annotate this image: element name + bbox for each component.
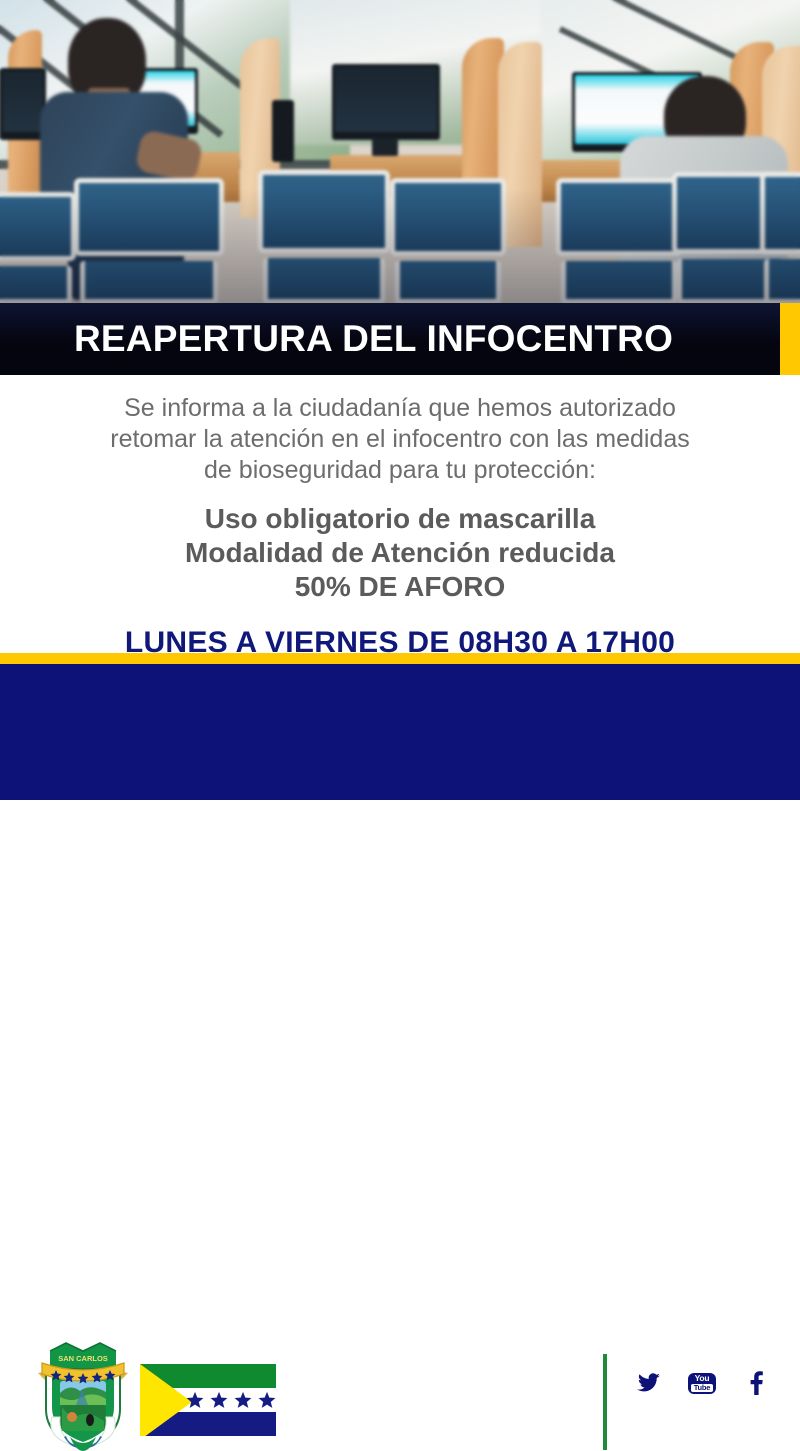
footer-divider [603,1354,607,1450]
measure-item-3: 50% DE AFORO [0,570,800,604]
measures-list: Uso obligatorio de mascarilla Modalidad … [0,502,800,604]
footer-yellow-rule [0,653,800,664]
youtube-top-text: You [695,1374,710,1383]
svg-text:SAN CARLOS: SAN CARLOS [58,1354,108,1363]
social-block: You Tube GADP SAN CARLOS [627,1361,777,1433]
social-handle: GADP SAN CARLOS [627,1416,777,1433]
organization-name: G.A.D. PARROQUIAL SAN CARLOS Administrac… [291,1363,591,1441]
youtube-bottom-text: Tube [691,1384,714,1392]
org-name-line1: G.A.D. PARROQUIAL [291,1363,591,1390]
measure-item-2: Modalidad de Atención reducida [0,536,800,570]
flag-stars [186,1391,276,1409]
facebook-icon[interactable] [733,1361,777,1405]
administration-period: Administración 2019 – 2023 [291,1419,567,1441]
intro-line-2: retomar la atención en el infocentro con… [48,424,752,455]
social-icons-row: You Tube [627,1361,777,1405]
twitter-icon[interactable] [627,1361,671,1405]
intro-line-3: de bioseguridad para tu protección: [48,455,752,486]
youtube-icon[interactable]: You Tube [680,1361,724,1405]
flag-icon [138,1362,278,1438]
poster: REAPERTURA DEL INFOCENTRO Se informa a l… [0,0,800,800]
flag-triangle [140,1364,192,1436]
coat-of-arms-icon: SAN CARLOS [32,1337,134,1451]
page-title: REAPERTURA DEL INFOCENTRO [0,303,800,375]
intro-line-1: Se informa a la ciudadanía que hemos aut… [48,393,752,424]
title-banner: REAPERTURA DEL INFOCENTRO [0,303,800,375]
org-name-line2: SAN CARLOS [291,1390,591,1417]
announcement-body: Se informa a la ciudadanía que hemos aut… [0,375,800,653]
infocentro-photo [0,0,800,305]
footer-bar: SAN CARLOS [0,664,800,800]
photo-vignette [0,0,800,305]
measure-item-1: Uso obligatorio de mascarilla [0,502,800,536]
intro-paragraph: Se informa a la ciudadanía que hemos aut… [0,393,800,486]
